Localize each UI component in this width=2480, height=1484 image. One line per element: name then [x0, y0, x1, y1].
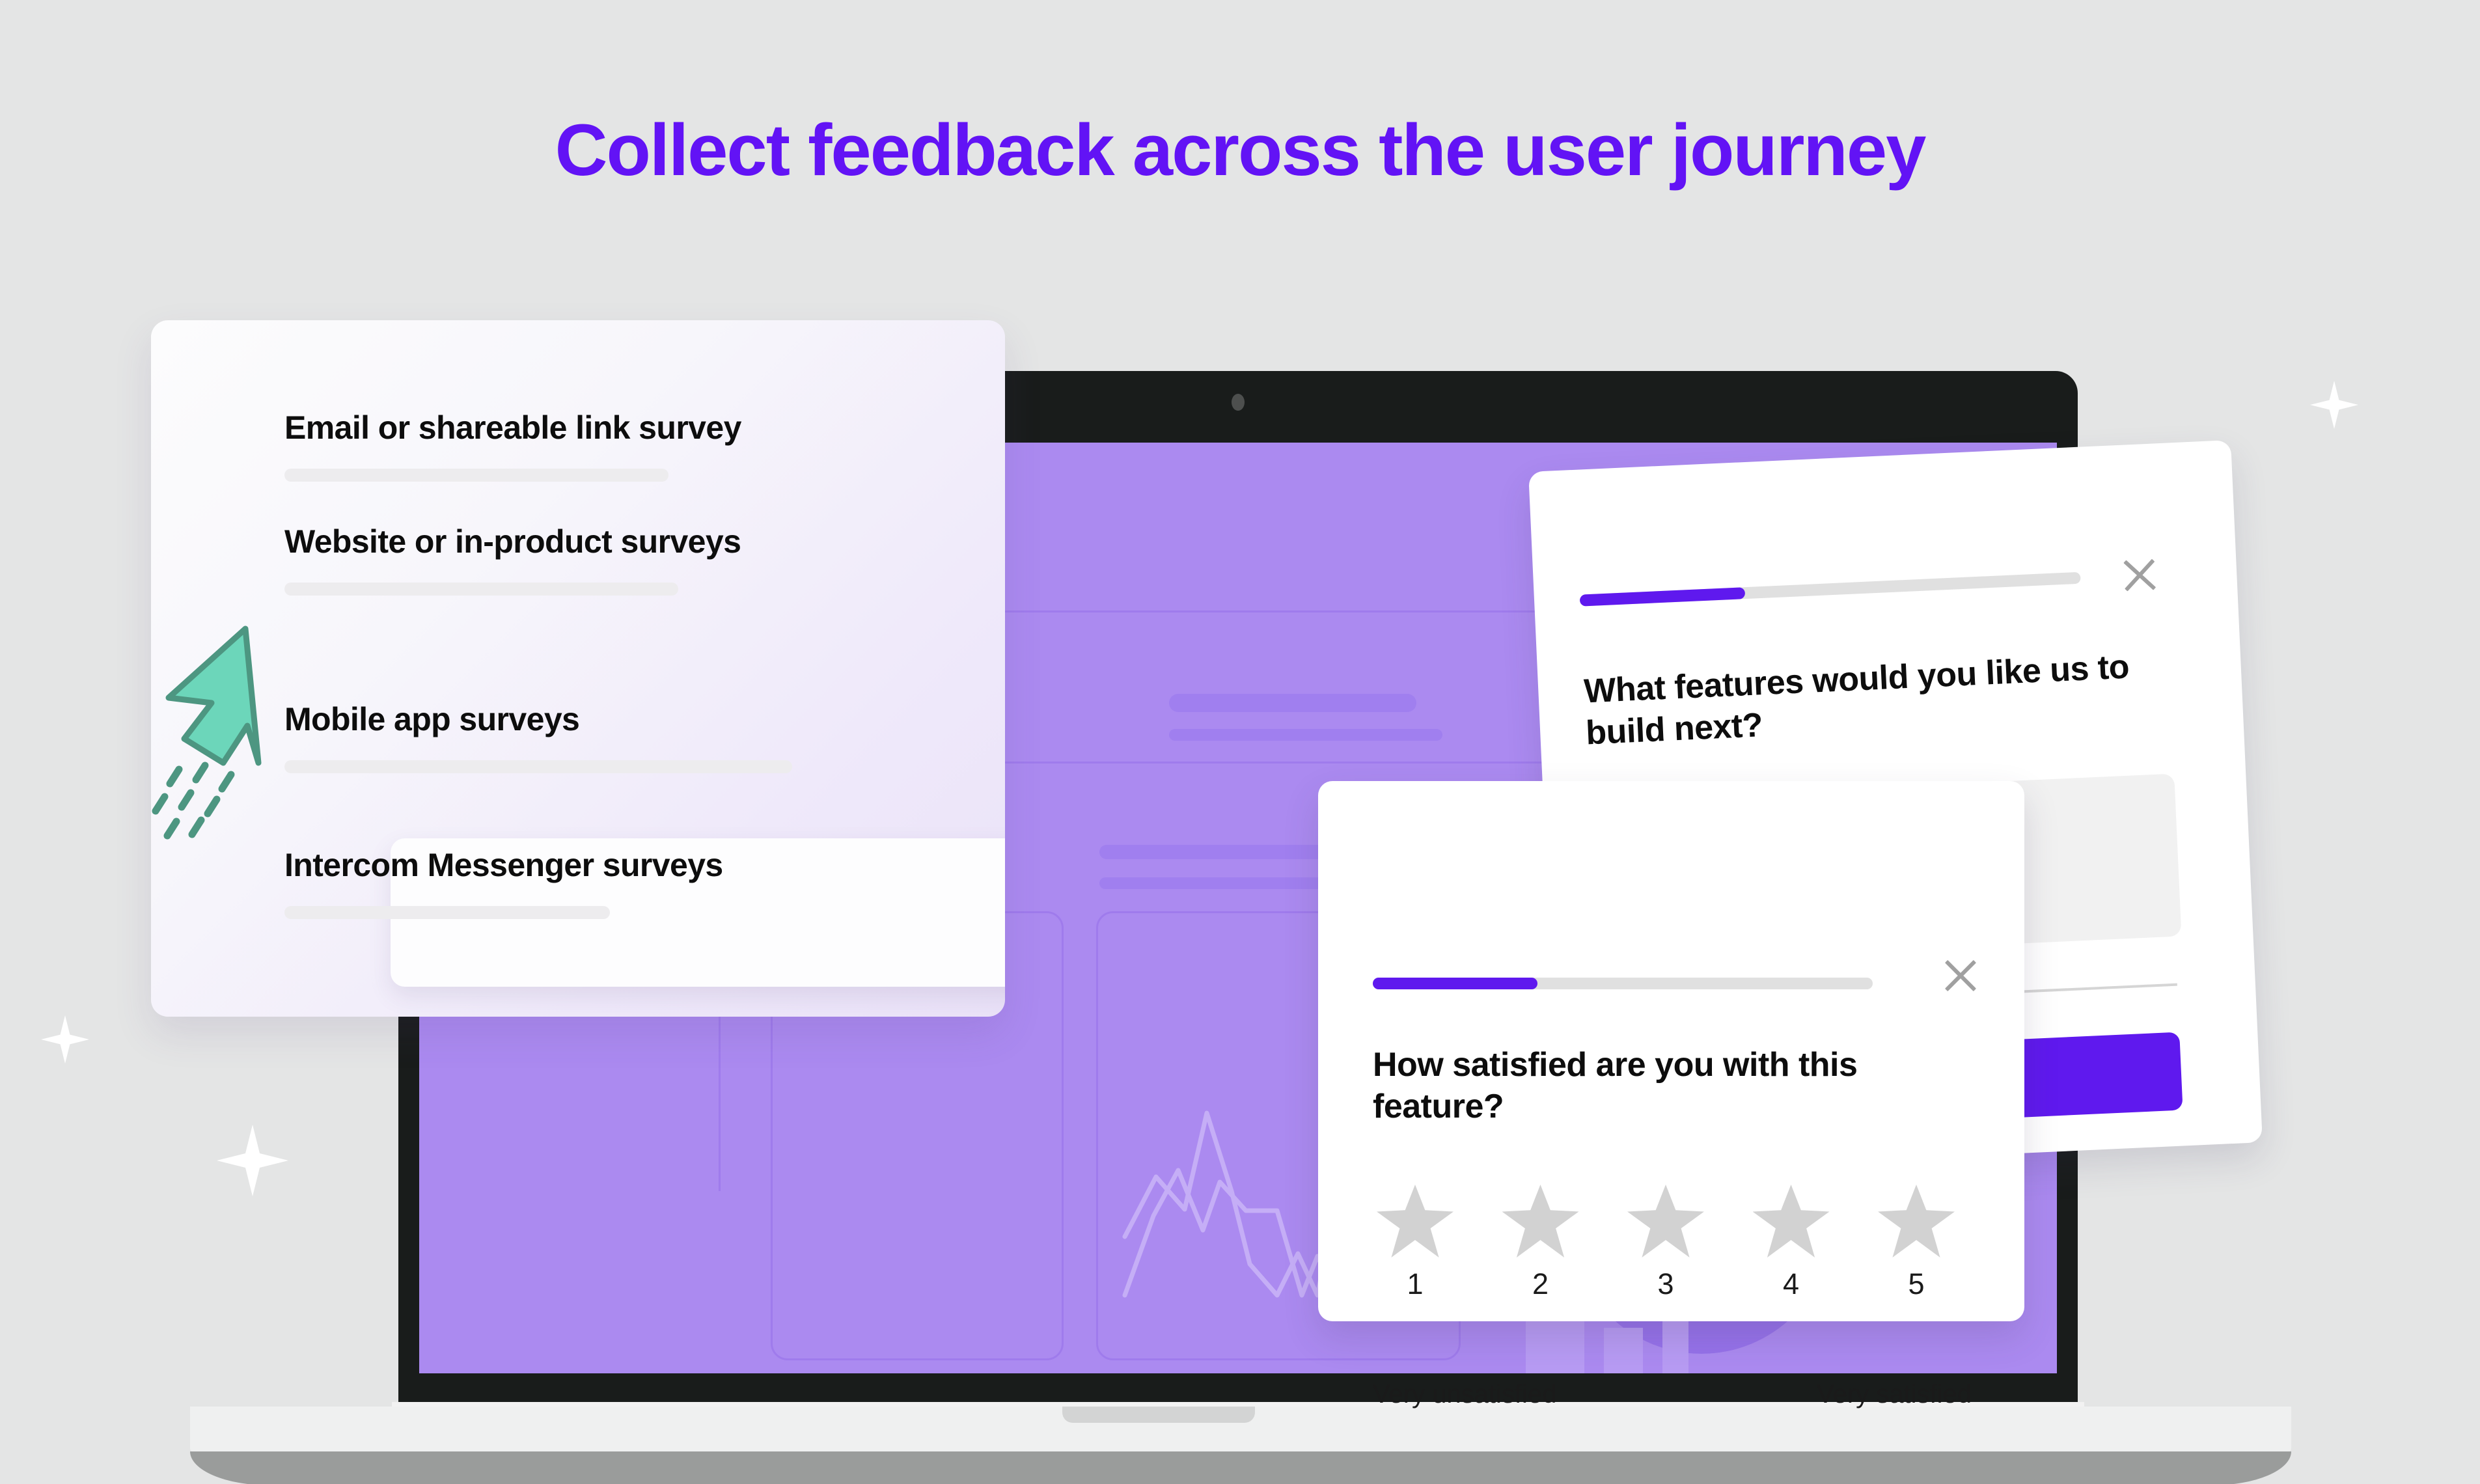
star-icon: [1878, 1185, 1955, 1257]
survey-type-description-placeholder: [284, 906, 610, 919]
star-rating-scale-labels: Very unsatisfied Very satisfied: [1373, 1380, 1972, 1409]
star-icon: [1377, 1185, 1454, 1257]
screen-placeholder-bar: [1169, 694, 1416, 712]
laptop-camera-icon: [1232, 394, 1245, 411]
star-rating-option[interactable]: 3: [1623, 1185, 1708, 1298]
survey-progress-fill: [1580, 587, 1746, 607]
laptop-front-edge: [190, 1451, 2291, 1484]
star-rating-option[interactable]: 4: [1749, 1185, 1834, 1298]
star-rating-value: 5: [1874, 1269, 1959, 1298]
star-icon: [1502, 1185, 1579, 1257]
survey-type-option[interactable]: Intercom Messenger surveys: [151, 849, 1005, 919]
survey-progress-bar: [1580, 572, 2081, 607]
screen-placeholder-bar: [1662, 1315, 1688, 1373]
survey-type-description-placeholder: [284, 469, 668, 482]
survey-question-text: How satisfied are you with this feature?: [1373, 1045, 1887, 1128]
star-rating-group: 1 2 3 4 5: [1373, 1185, 1959, 1298]
screen-placeholder-bar: [1604, 1328, 1643, 1373]
survey-type-label: Email or shareable link survey: [284, 411, 1005, 444]
survey-type-option[interactable]: Website or in-product surveys: [151, 525, 1005, 596]
star-icon: [1627, 1185, 1704, 1257]
survey-progress-bar: [1373, 978, 1873, 989]
sparkle-icon: [2310, 381, 2358, 429]
laptop-trackpad-notch: [1062, 1407, 1255, 1423]
close-x-icon[interactable]: [2119, 554, 2161, 596]
star-rating-option[interactable]: 5: [1874, 1185, 1959, 1298]
survey-type-option[interactable]: Email or shareable link survey: [151, 411, 1005, 482]
star-rating-option[interactable]: 1: [1373, 1185, 1457, 1298]
survey-progress-fill: [1373, 978, 1537, 989]
survey-card-star-rating: How satisfied are you with this feature?…: [1318, 781, 2024, 1321]
sparkle-icon: [41, 1015, 89, 1064]
star-rating-value: 2: [1498, 1269, 1583, 1298]
scale-max-label: Very satisfied: [1817, 1380, 1972, 1409]
star-rating-value: 3: [1623, 1269, 1708, 1298]
star-icon: [1753, 1185, 1830, 1257]
star-rating-value: 4: [1749, 1269, 1834, 1298]
survey-question-text: What features would you like us to build…: [1583, 646, 2140, 754]
survey-type-description-placeholder: [284, 760, 792, 773]
page-title: Collect feedback across the user journey: [0, 114, 2480, 187]
star-rating-value: 1: [1373, 1269, 1457, 1298]
survey-type-option[interactable]: Mobile app surveys: [151, 703, 1005, 773]
screen-placeholder-bar: [1099, 845, 1340, 859]
survey-type-label: Intercom Messenger surveys: [284, 849, 1005, 881]
close-x-icon[interactable]: [1940, 955, 1981, 996]
survey-types-card: Email or shareable link survey Website o…: [151, 320, 1005, 1017]
screen-placeholder-bar: [1099, 877, 1353, 889]
scale-min-label: Very unsatisfied: [1373, 1380, 1556, 1409]
survey-type-label: Website or in-product surveys: [284, 525, 1005, 558]
survey-type-label: Mobile app surveys: [284, 703, 1005, 735]
sparkle-icon: [217, 1125, 288, 1196]
star-rating-option[interactable]: 2: [1498, 1185, 1583, 1298]
screen-placeholder-bar: [1169, 729, 1442, 741]
survey-type-description-placeholder: [284, 583, 678, 596]
